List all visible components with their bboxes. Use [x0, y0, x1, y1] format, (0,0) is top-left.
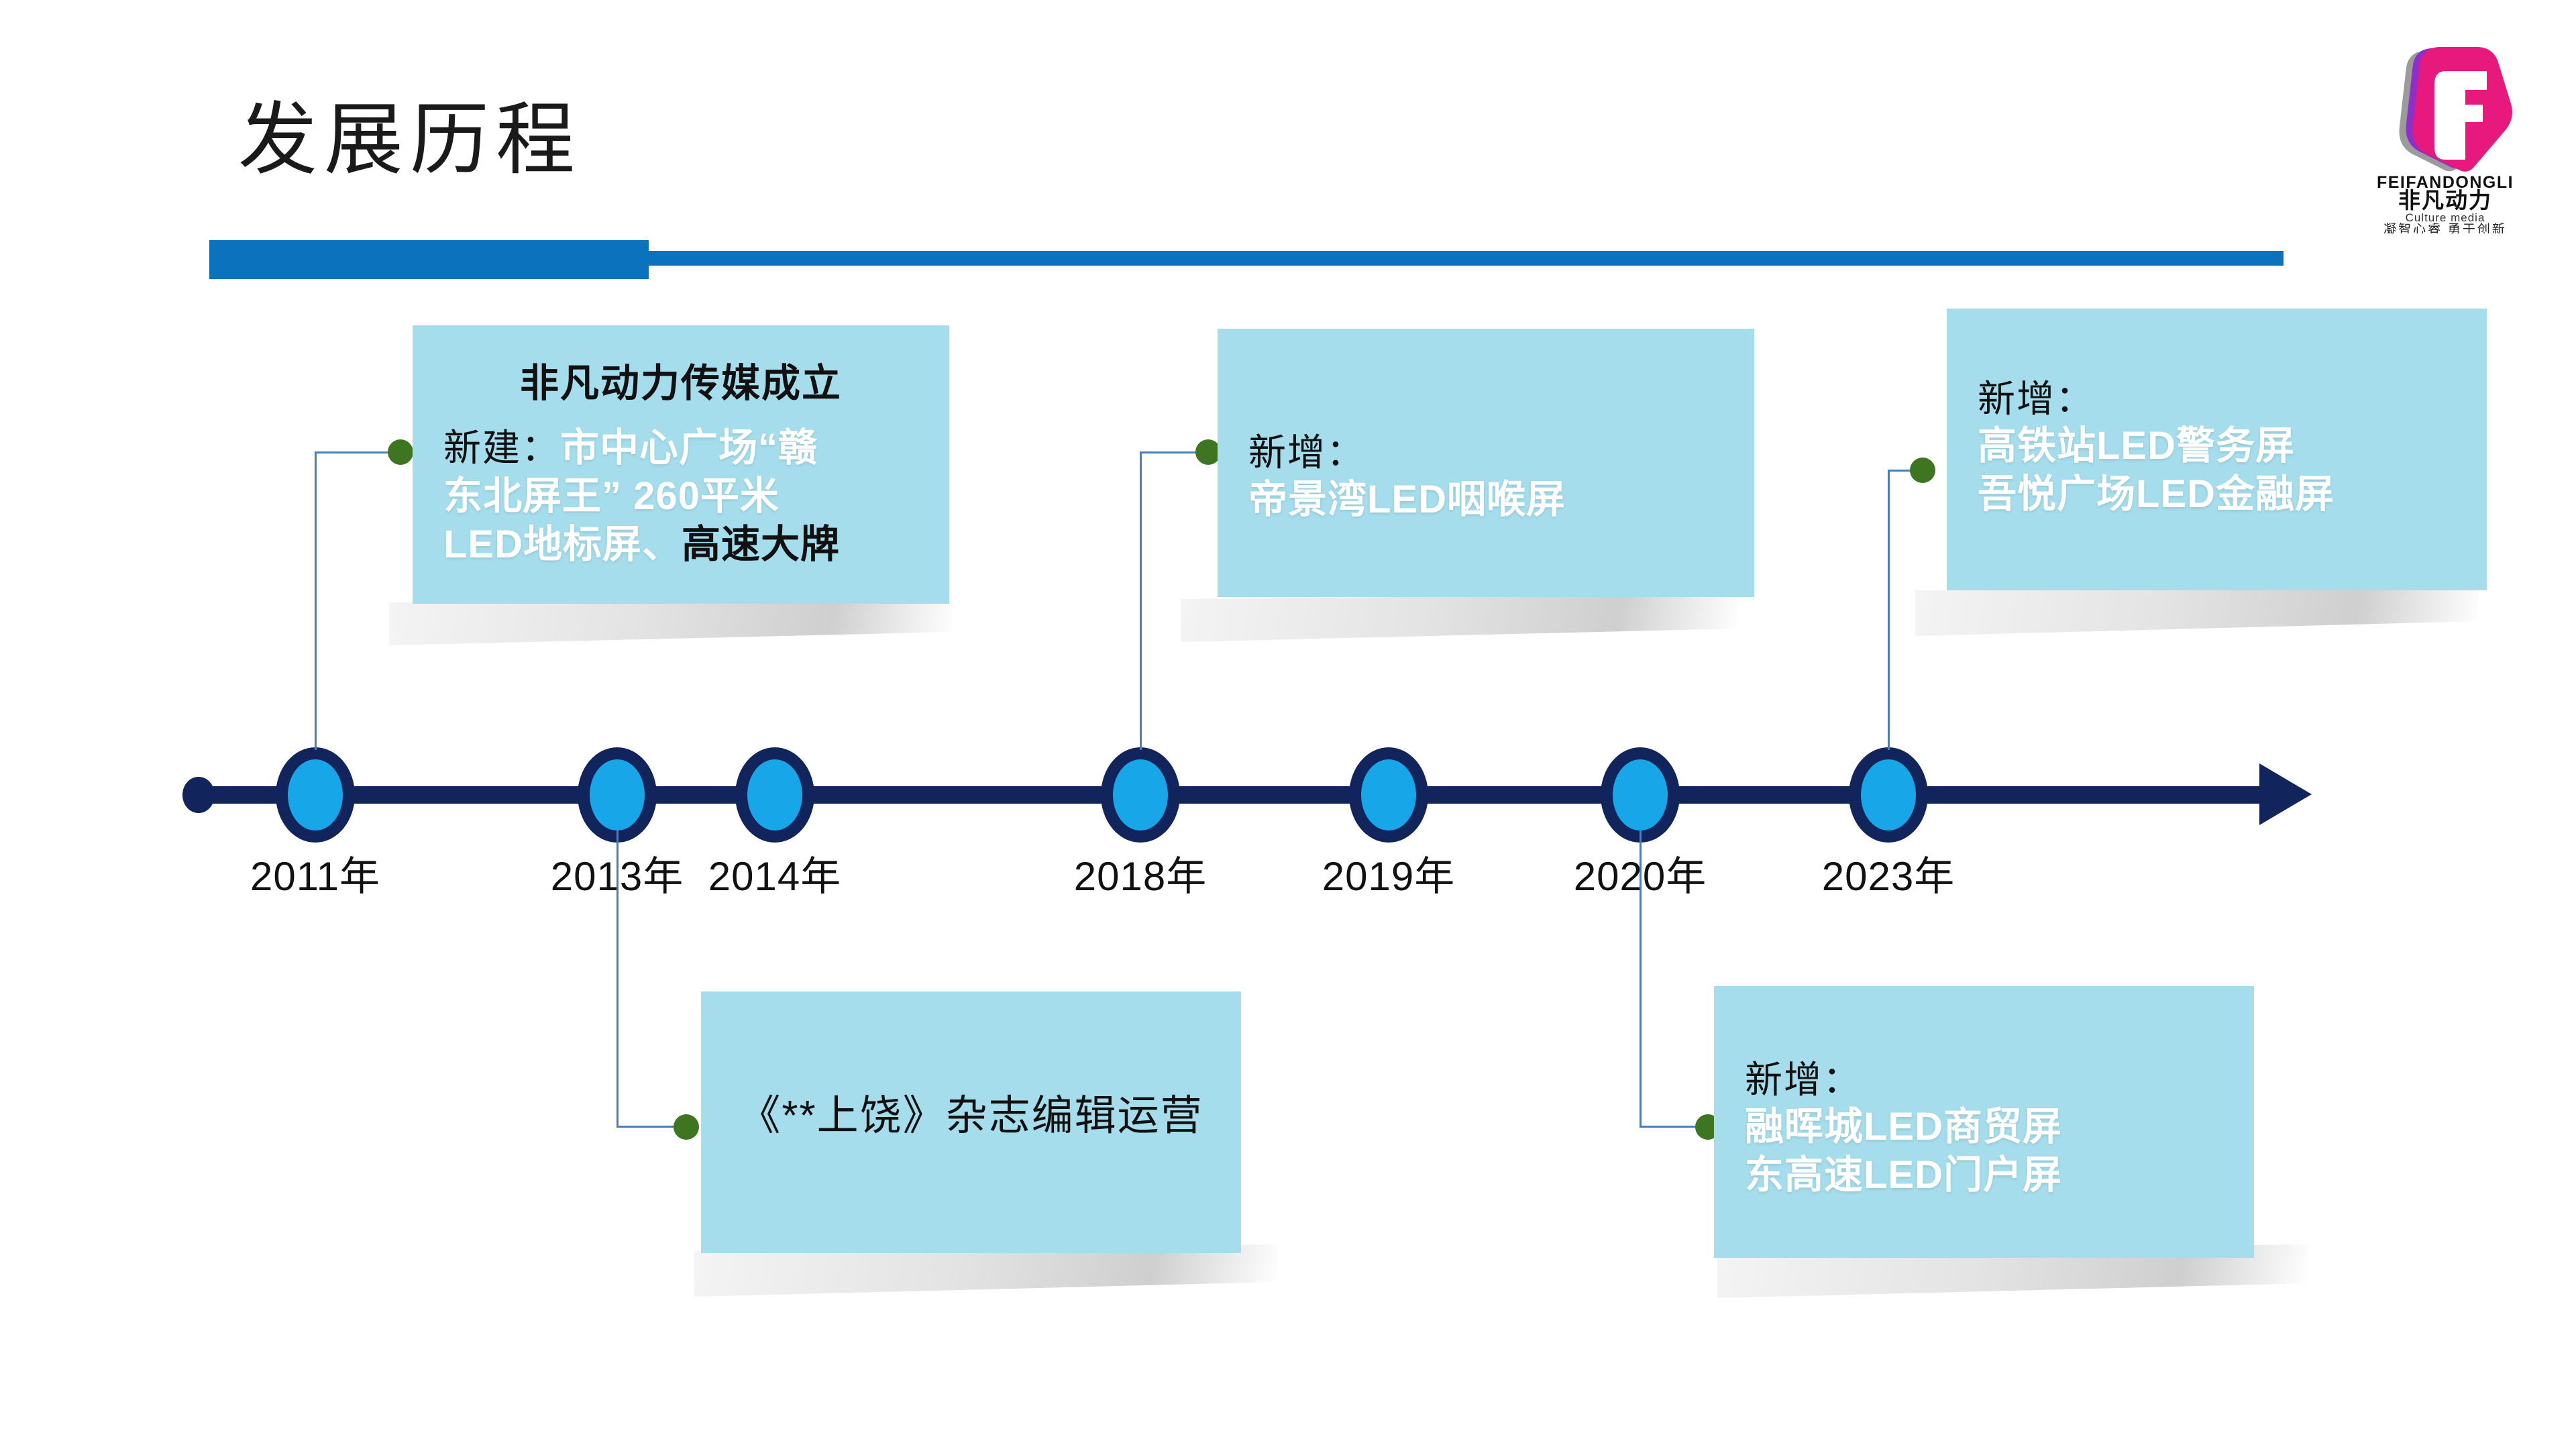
year-label-2018: 2018年: [1074, 844, 1207, 902]
timeline-node-2011[interactable]: [276, 747, 355, 843]
card-shadow-2023: [1915, 584, 2479, 636]
card-2020-lead: 新增：: [1745, 1059, 1862, 1101]
title-underline-line: [649, 251, 2284, 266]
year-label-2014: 2014年: [708, 844, 841, 902]
connector-2018-vertical: [1140, 451, 1142, 750]
card-2013-text: 《**上饶》杂志编辑运营: [739, 1093, 1203, 1139]
card-2011-lead: 新建：: [443, 427, 560, 469]
card-2023-line-2: 吾悦广场LED金融屏: [1978, 472, 2334, 516]
year-label-2011: 2011年: [250, 844, 380, 902]
logo-name: 非凡动力: [2398, 188, 2492, 213]
card-2011-title: 非凡动力传媒成立: [443, 362, 918, 407]
timeline-node-2020[interactable]: [1601, 747, 1680, 843]
connector-dot-2011: [388, 439, 413, 465]
title-underline-block: [209, 240, 649, 279]
logo-slogan: 凝智心睿 勇于创新: [2383, 222, 2507, 233]
timeline-axis: [201, 786, 2281, 804]
node-inner: [1113, 759, 1168, 830]
card-2023-line-1: 高铁站LED警务屏: [1978, 424, 2295, 468]
f-logo-icon: FEIFANDONGLI 非凡动力 Culture media 凝智心睿 勇于创…: [2345, 32, 2546, 233]
connector-2013-vertical: [616, 830, 619, 1127]
node-inner: [1613, 759, 1668, 830]
card-2011[interactable]: 非凡动力传媒成立 新建：市中心广场“赣 东北屏王” 260平米 LED地标屏、高…: [413, 325, 949, 604]
year-label-2019: 2019年: [1322, 844, 1455, 902]
company-logo: FEIFANDONGLI 非凡动力 Culture media 凝智心睿 勇于创…: [2345, 32, 2546, 233]
card-2011-highlight-2: 东北屏王” 260平米: [443, 474, 780, 518]
connector-2023-vertical: [1888, 470, 1890, 750]
card-2020[interactable]: 新增： 融晖城LED商贸屏 东高速LED门户屏: [1714, 986, 2254, 1258]
timeline-node-2019[interactable]: [1349, 747, 1428, 843]
card-2023-lead: 新增：: [1978, 378, 2094, 420]
connector-dot-2023: [1910, 458, 1935, 483]
card-2020-line-2: 东高速LED门户屏: [1745, 1153, 2062, 1197]
card-shadow-2018: [1181, 594, 1737, 642]
card-2011-tail: 高速大牌: [682, 523, 840, 566]
year-label-2023: 2023年: [1822, 844, 1955, 902]
card-2018-lead: 新增：: [1248, 431, 1365, 474]
timeline-node-2014[interactable]: [735, 747, 814, 843]
card-2011-highlight-3: LED地标屏、: [443, 523, 682, 566]
card-shadow-2011: [389, 597, 953, 645]
slide-canvas: 发展历程 FEIFANDONGLI 非凡动力 Culture media 凝智心…: [0, 0, 2576, 1449]
connector-dot-2013: [674, 1114, 699, 1140]
node-inner: [747, 759, 802, 830]
connector-2011-vertical: [315, 451, 317, 750]
timeline-arrow-icon: [2259, 763, 2312, 825]
card-2011-highlight-1: 市中心广场“赣: [560, 426, 818, 470]
card-2020-line-1: 融晖城LED商贸屏: [1745, 1105, 2062, 1148]
node-inner: [1361, 759, 1416, 830]
node-inner: [1861, 759, 1916, 830]
page-title: 发展历程: [238, 101, 582, 180]
timeline-node-2013[interactable]: [578, 747, 657, 843]
node-inner: [590, 759, 645, 830]
card-2018[interactable]: 新增： 帝景湾LED咽喉屏: [1218, 329, 1754, 597]
timeline-node-2023[interactable]: [1849, 747, 1928, 843]
card-2013[interactable]: 《**上饶》杂志编辑运营: [701, 991, 1241, 1253]
card-2023[interactable]: 新增： 高铁站LED警务屏 吾悦广场LED金融屏: [1947, 309, 2487, 590]
timeline-node-2018[interactable]: [1101, 747, 1180, 843]
connector-2020-vertical: [1640, 830, 1642, 1127]
card-2018-line-1: 帝景湾LED咽喉屏: [1248, 478, 1566, 521]
node-inner: [288, 759, 343, 830]
